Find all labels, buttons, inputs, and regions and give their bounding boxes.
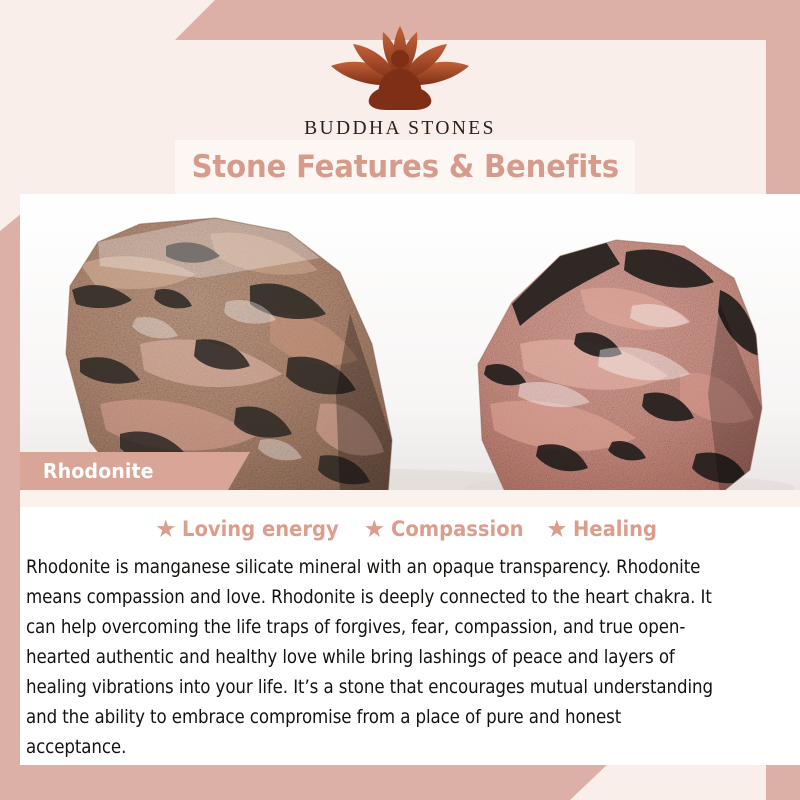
stone-name-label: Rhodonite: [43, 459, 154, 483]
star-icon: [365, 520, 384, 539]
stone-description: Rhodonite is manganese silicate mineral …: [26, 553, 721, 763]
stone-name-tag: Rhodonite: [20, 452, 250, 490]
benefits-row: Loving energy Compassion Healing: [20, 517, 800, 541]
benefit-item-loving-energy: Loving energy: [156, 517, 351, 541]
title-banner: Stone Features & Benefits: [175, 140, 635, 194]
brand-logo: BUDDHA STONES: [0, 22, 800, 140]
benefit-label: Loving energy: [182, 517, 339, 541]
brand-name: BUDDHA STONES: [0, 118, 800, 140]
page-title: Stone Features & Benefits: [191, 149, 618, 185]
panel-top-fade: [20, 490, 800, 507]
rhodonite-stones-image: [20, 194, 800, 494]
benefit-item-healing: Healing: [547, 517, 663, 541]
decorative-band-bottom: [0, 762, 800, 800]
star-icon: [156, 520, 175, 539]
stone-photo: [20, 194, 800, 494]
benefit-label: Healing: [573, 517, 657, 541]
content-panel: Loving energy Compassion Healing Rhodoni…: [20, 490, 800, 765]
star-icon: [547, 520, 566, 539]
benefit-label: Compassion: [391, 517, 524, 541]
benefit-item-compassion: Compassion: [365, 517, 534, 541]
lotus-meditation-icon: [305, 22, 495, 114]
infographic-page: BUDDHA STONES Stone Features & Benefits: [0, 0, 800, 800]
